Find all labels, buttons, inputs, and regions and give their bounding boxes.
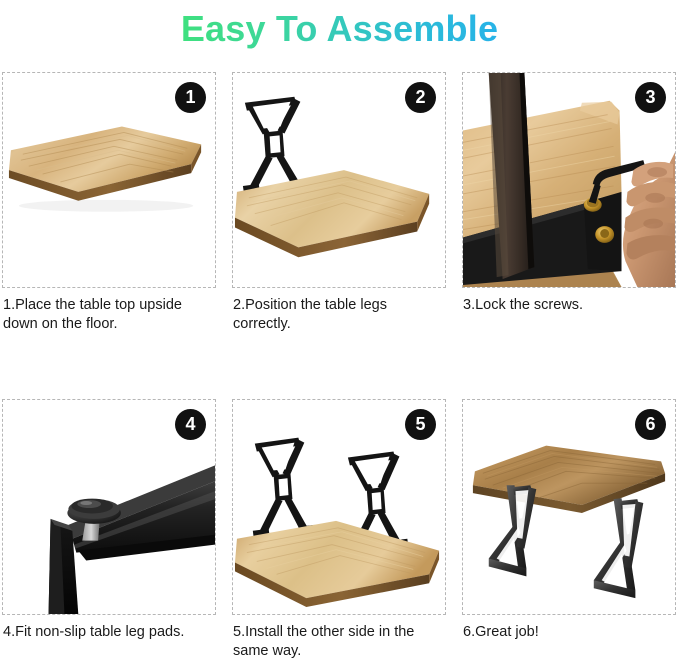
steps-row-1: 1 [2,72,677,333]
steps-grid: 1 [2,72,677,660]
step-cell-5: 5 [232,399,446,660]
step-caption-4: 4.Fit non-slip table leg pads. [2,623,216,659]
step-badge-5: 5 [405,409,436,440]
step-caption-1: 1.Place the table top upside down on the… [2,296,216,333]
step-cell-3: 3 [462,72,676,333]
step-cell-2: 2 [232,72,446,333]
step-badge-6: 6 [635,409,666,440]
step-panel-4: 4 [2,399,216,615]
step-caption-5: 5.Install the other side in the same way… [232,623,446,660]
step-badge-3: 3 [635,82,666,113]
step-panel-1: 1 [2,72,216,288]
step-caption-6: 6.Great job! [462,623,676,659]
step-badge-4: 4 [175,409,206,440]
step-badge-1: 1 [175,82,206,113]
step-caption-2: 2.Position the table legs correctly. [232,296,446,333]
step-panel-6: 6 [462,399,676,615]
step-cell-4: 4 [2,399,216,660]
step-panel-2: 2 [232,72,446,288]
step-panel-3: 3 [462,72,676,288]
step-caption-3: 3.Lock the screws. [462,296,676,332]
step-badge-2: 2 [405,82,436,113]
step-cell-1: 1 [2,72,216,333]
step-cell-6: 6 [462,399,676,660]
page-title: Easy To Assemble [181,8,498,50]
steps-row-2: 4 [2,399,677,660]
step-panel-5: 5 [232,399,446,615]
title-bar: Easy To Assemble [0,0,679,58]
